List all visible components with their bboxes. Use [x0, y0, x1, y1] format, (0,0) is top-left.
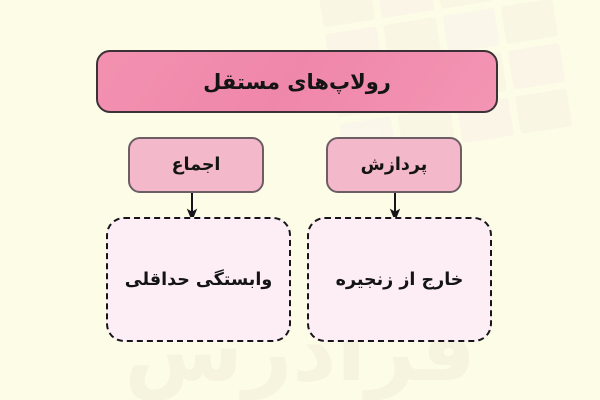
watermark-cell	[500, 0, 558, 44]
node-minimal-dependency[interactable]: وابستگی حداقلی	[106, 217, 291, 342]
watermark-cell	[515, 88, 573, 134]
watermark-text: فرادرس	[0, 308, 600, 394]
watermark-cell	[435, 0, 493, 9]
node-label-off-chain: خارج از زنجیره	[336, 270, 464, 290]
node-independent-rollups[interactable]: رولاپ‌های مستقل	[96, 50, 498, 113]
node-label-minimal-dependency: وابستگی حداقلی	[125, 270, 272, 290]
node-consensus[interactable]: اجماع	[128, 137, 264, 193]
node-off-chain[interactable]: خارج از زنجیره	[307, 217, 492, 342]
diagram-canvas: فرادرس رولاپ‌های مستقل اجماع پردازش وابس…	[0, 0, 600, 400]
watermark-cell	[376, 0, 434, 18]
node-label-consensus: اجماع	[172, 155, 221, 175]
node-label-processing: پردازش	[361, 155, 428, 175]
node-label-independent-rollups: رولاپ‌های مستقل	[203, 70, 391, 94]
watermark-cell	[508, 43, 566, 89]
watermark-cell	[442, 7, 500, 53]
watermark-cell	[318, 0, 376, 27]
node-processing[interactable]: پردازش	[326, 137, 462, 193]
